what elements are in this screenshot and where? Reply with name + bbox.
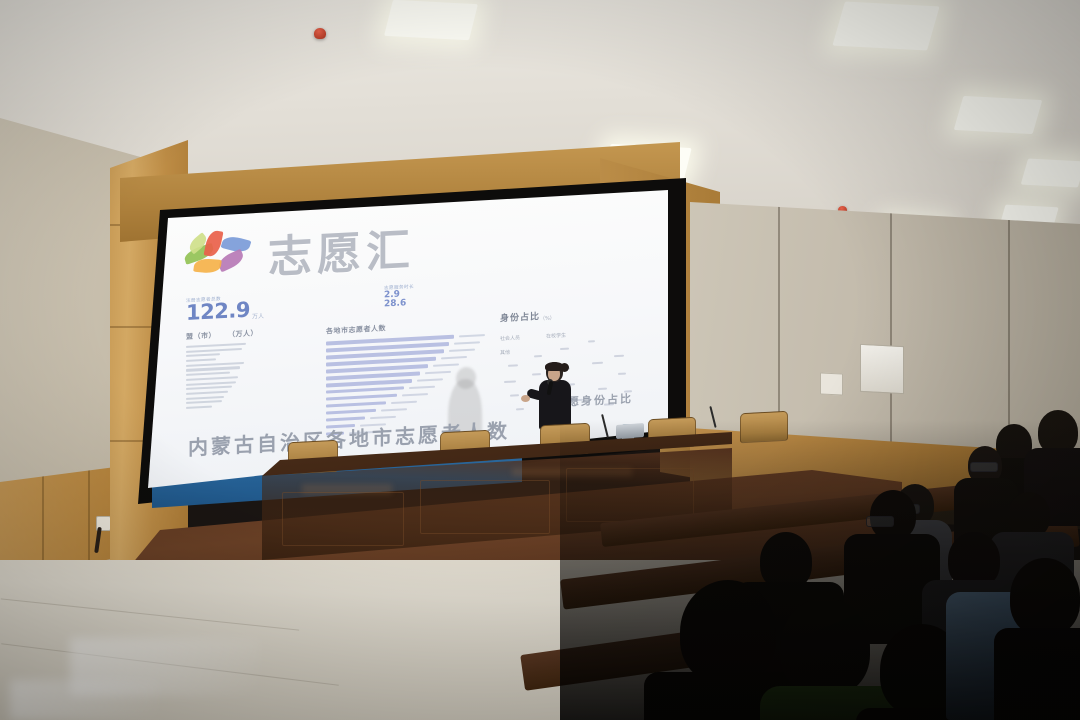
chart-bar-value-label: [454, 341, 480, 345]
identity-scatter-mark: [508, 364, 518, 367]
identity-scatter-mark: [560, 348, 569, 350]
list-header-count: （万人）: [228, 328, 258, 340]
seated-audience: [0, 380, 1080, 720]
identity-scatter-mark: [592, 362, 603, 365]
identity-scatter-mark: [618, 373, 626, 375]
chart-bar-value-label: [459, 334, 485, 338]
smoke-detector-icon: [314, 28, 326, 39]
identity-panel-heading: 身份占比: [500, 309, 540, 324]
stat-value: 28.6: [384, 299, 414, 310]
identity-scatter-mark: [588, 340, 595, 342]
chart-bar-value-label: [441, 356, 467, 360]
stat-block-hours: 志愿服务时长 2.9 28.6: [384, 284, 414, 310]
ceiling-light-icon: [1021, 158, 1080, 187]
stat-unit: 万人: [252, 311, 264, 321]
presenter-hair-bun: [560, 363, 569, 372]
ceiling-light-icon: [384, 0, 478, 40]
logo-petal-orange: [193, 258, 222, 274]
identity-label-2: 其他: [500, 349, 510, 357]
chart-bar-value-label: [425, 370, 451, 374]
stat-block-total: 注册志愿者总数 122.9 万人: [186, 294, 264, 324]
stat-value: 122.9: [186, 301, 250, 324]
zhiyuanhui-pinwheel-logo: [184, 228, 262, 290]
identity-scatter-mark: [614, 355, 624, 358]
identity-label-0: 社会人员: [500, 334, 520, 342]
chart-bar-value-label: [449, 348, 475, 352]
list-header-city: 盟（市）: [186, 330, 216, 342]
ceiling-light-icon: [954, 96, 1043, 134]
conference-hall-scene: 志愿汇 注册志愿者总数 122.9 万人 志愿服务时长 2.9 28.6 盟（市…: [0, 0, 1080, 720]
chart-bar-value-label: [433, 363, 459, 367]
ceiling-light-icon: [832, 1, 939, 50]
slide-brand-title: 志愿汇: [268, 214, 415, 286]
identity-scatter-mark: [534, 355, 542, 357]
identity-label-1: 在校学生: [546, 332, 566, 340]
identity-panel-unit: （%）: [540, 314, 555, 322]
